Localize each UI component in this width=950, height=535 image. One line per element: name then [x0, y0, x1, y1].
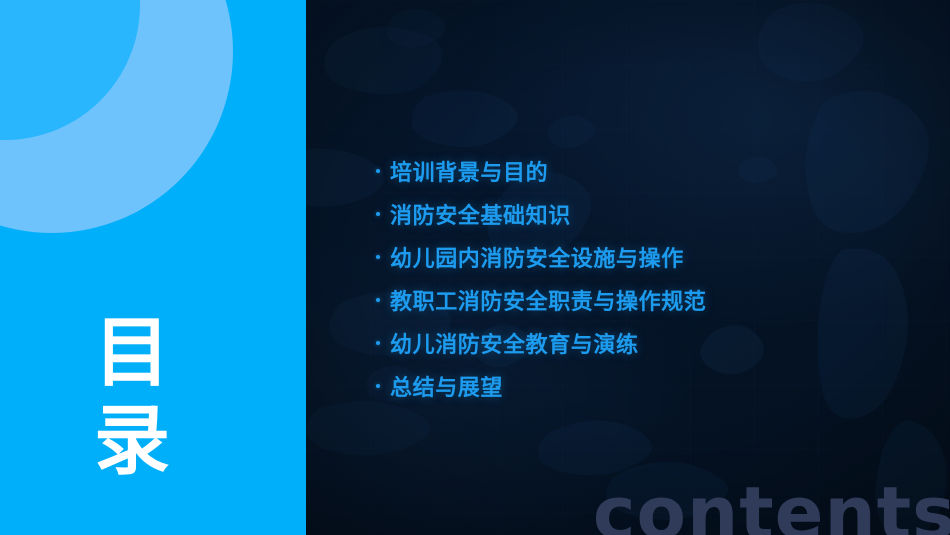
dot-bullet-icon — [376, 341, 390, 345]
page-title-char-1: 目 — [78, 310, 188, 398]
toc-item-label: 消防安全基础知识 — [390, 198, 571, 230]
dot-bullet-icon — [376, 212, 390, 216]
dot-bullet-icon — [376, 384, 390, 388]
toc-item-label: 幼儿园内消防安全设施与操作 — [390, 241, 684, 273]
toc-item-label: 总结与展望 — [390, 370, 503, 402]
toc-item-label: 教职工消防安全职责与操作规范 — [390, 284, 706, 316]
page-title-char-2: 录 — [78, 398, 188, 486]
left-accent-panel: 目 录 — [0, 0, 306, 535]
dot-bullet-icon — [376, 255, 390, 259]
page-title: 目 录 — [78, 310, 188, 486]
presentation-slide: 目 录 培训背景与目的 消防安全基础知识 幼儿园内消防安全设施与操作 教职工消防… — [0, 0, 950, 535]
contents-watermark: contents — [593, 477, 950, 535]
table-of-contents-list: 培训背景与目的 消防安全基础知识 幼儿园内消防安全设施与操作 教职工消防安全职责… — [376, 149, 916, 407]
toc-item-4[interactable]: 教职工消防安全职责与操作规范 — [376, 278, 916, 321]
toc-item-6[interactable]: 总结与展望 — [376, 364, 916, 407]
toc-item-label: 培训背景与目的 — [390, 155, 548, 187]
toc-item-3[interactable]: 幼儿园内消防安全设施与操作 — [376, 235, 916, 278]
dot-bullet-icon — [376, 298, 390, 302]
toc-item-1[interactable]: 培训背景与目的 — [376, 149, 916, 192]
toc-item-2[interactable]: 消防安全基础知识 — [376, 192, 916, 235]
toc-item-5[interactable]: 幼儿消防安全教育与演练 — [376, 321, 916, 364]
toc-item-label: 幼儿消防安全教育与演练 — [390, 327, 639, 359]
dot-bullet-icon — [376, 169, 390, 173]
